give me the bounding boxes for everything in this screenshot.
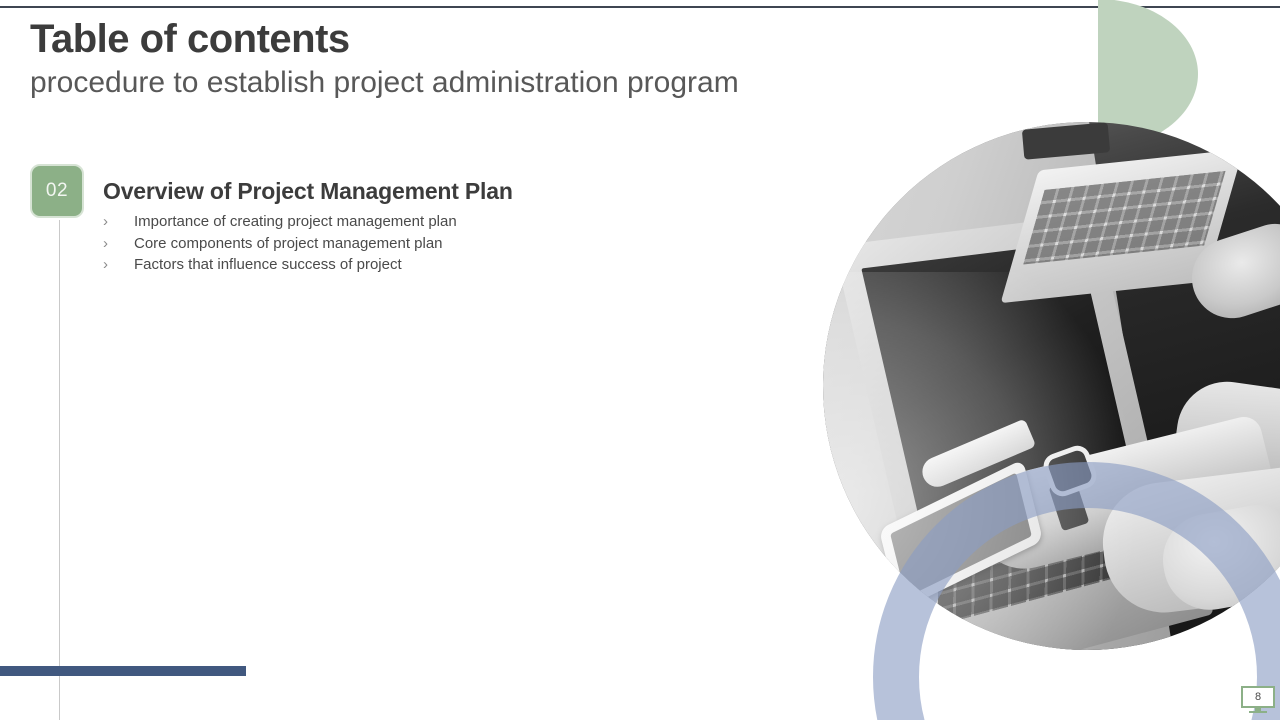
phone-on-desk-top <box>1022 122 1110 159</box>
toc-entry-body: Overview of Project Management Plan › Im… <box>103 177 783 276</box>
page-number-label: 8 <box>1241 686 1275 708</box>
page-number-monitor-icon: 8 <box>1241 686 1275 713</box>
toc-bullet-list: › Importance of creating project managem… <box>103 211 783 276</box>
toc-vertical-connector-line <box>59 220 60 720</box>
list-item-label: Core components of project management pl… <box>134 235 443 252</box>
toc-entry-title: Overview of Project Management Plan <box>103 177 783 205</box>
list-item-label: Factors that influence success of projec… <box>134 256 402 273</box>
toc-number-label: 02 <box>32 166 82 216</box>
chevron-right-icon: › <box>103 233 108 255</box>
page-subtitle: procedure to establish project administr… <box>30 64 1030 102</box>
toc-number-badge: 02 <box>30 164 84 218</box>
top-divider <box>0 6 1280 8</box>
monitor-stand-foot <box>1249 711 1267 713</box>
list-item: › Core components of project management … <box>103 233 783 255</box>
slide: Table of contents procedure to establish… <box>0 0 1280 720</box>
chevron-right-icon: › <box>103 211 108 233</box>
list-item: › Importance of creating project managem… <box>103 211 783 233</box>
slide-header: Table of contents procedure to establish… <box>30 16 1030 102</box>
bottom-accent-bar <box>0 666 246 676</box>
second-laptop-keyboard <box>1023 171 1225 265</box>
list-item: › Factors that influence success of proj… <box>103 254 783 276</box>
page-title: Table of contents <box>30 16 1030 62</box>
list-item-label: Importance of creating project managemen… <box>134 213 457 230</box>
chevron-right-icon: › <box>103 254 108 276</box>
